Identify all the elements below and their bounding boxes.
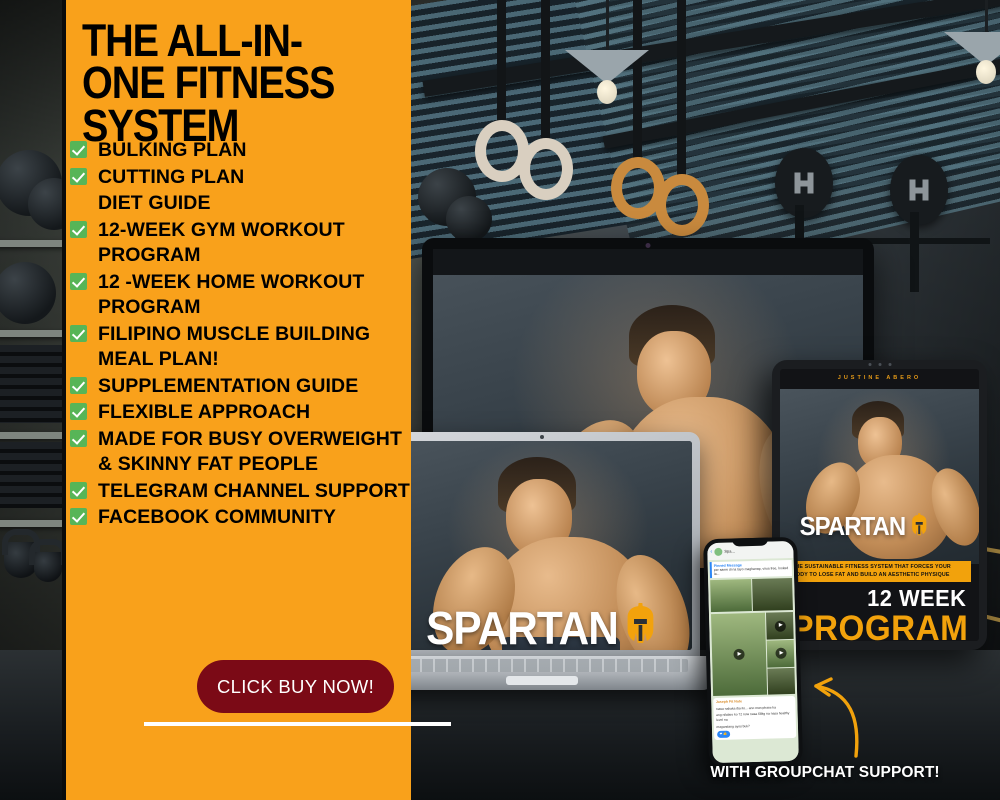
kettlebell: [34, 552, 62, 582]
gymnastic-ring: [519, 138, 573, 200]
checkmark-icon: [70, 165, 98, 185]
check-box: [70, 508, 87, 525]
storage-shelf: [0, 240, 70, 247]
tablet-subtitle-banner: THE SUSTAINABLE FITNESS SYSTEM THAT FORC…: [788, 561, 971, 582]
phone-notch: [732, 538, 768, 547]
feature-label: FILIPINO MUSCLE BUILDING MEAL PLAN!: [98, 322, 415, 373]
video-thumbnail[interactable]: [710, 579, 751, 612]
checkmark-icon: [70, 218, 98, 238]
message-line: magandang ayos buk?: [716, 723, 793, 730]
checkmark-icon: [70, 374, 98, 394]
feature-label: TELEGRAM CHANNEL SUPPORT: [98, 479, 410, 505]
pinned-text: per same di na tayo maghanap, virus free…: [714, 566, 789, 576]
storage-shelf: [0, 330, 70, 337]
pinned-message[interactable]: Pinned Message per same di na tayo magha…: [710, 560, 792, 578]
pendant-light-cord: [985, 0, 988, 34]
tablet-spartan-text: SPARTAN: [800, 511, 906, 542]
laptop-spartan-text: SPARTAN: [426, 601, 618, 650]
divider: [144, 722, 451, 726]
feature-label: 12 -WEEK HOME WORKOUT PROGRAM: [98, 270, 415, 321]
laptop-camera-icon: [540, 435, 544, 439]
video-thumbnail[interactable]: [752, 578, 793, 611]
video-thumbnail[interactable]: [766, 612, 794, 639]
feature-item: FLEXIBLE APPROACH: [70, 400, 415, 426]
laptop-trackpad: [506, 676, 578, 685]
pendant-light-shade: [565, 50, 649, 84]
check-box: [70, 325, 87, 342]
feature-item: 12-WEEK GYM WORKOUT PROGRAM: [70, 218, 415, 269]
groupchat-caption: WITH GROUPCHAT SUPPORT!: [700, 764, 950, 782]
checkmark-icon: [70, 427, 98, 447]
pendant-light-bulb: [976, 60, 996, 84]
feature-label: FACEBOOK COMMUNITY: [98, 505, 336, 531]
medicine-ball: [446, 196, 492, 242]
play-icon[interactable]: [775, 648, 786, 659]
feature-label: CUTTING PLAN: [98, 165, 244, 191]
check-box: [70, 221, 87, 238]
media-grid-top[interactable]: [710, 578, 793, 612]
checkmark-icon: [70, 400, 98, 420]
curved-arrow-icon: [798, 648, 908, 758]
rack-post: [910, 212, 919, 292]
laptop-mockup: SPARTAN: [372, 432, 712, 700]
back-chevron-icon[interactable]: ‹: [710, 549, 712, 555]
pendant-light-cord: [606, 0, 609, 52]
feature-item: DIET GUIDE: [70, 191, 415, 217]
checkmark-icon: [70, 270, 98, 290]
check-box: [70, 273, 87, 290]
checkmark-icon: [70, 505, 98, 525]
feature-label: FLEXIBLE APPROACH: [98, 400, 310, 426]
play-icon[interactable]: [774, 620, 785, 631]
ring-strap: [541, 0, 550, 146]
play-icon[interactable]: [733, 649, 744, 660]
checkmark-icon: [70, 322, 98, 342]
laptop-keyboard: [396, 659, 688, 672]
feature-label: MADE FOR BUSY OVERWEIGHT & SKINNY FAT PE…: [98, 427, 415, 478]
video-thumbnail[interactable]: [711, 613, 767, 696]
chat-title: Spa...: [724, 548, 735, 553]
storage-shelf: [0, 520, 70, 527]
feature-item: FACEBOOK COMMUNITY: [70, 505, 415, 531]
page-title: THE ALL-IN-ONE FITNESS SYSTEM: [82, 20, 372, 147]
weight-plate-stack: [0, 345, 64, 423]
feature-item: BULKING PLAN: [70, 138, 415, 164]
check-box: [70, 403, 87, 420]
spartan-helmet-icon: [622, 603, 659, 650]
screen-topbar: [433, 249, 863, 275]
media-grid-main[interactable]: [711, 612, 795, 696]
tablet-screen: JUSTINE ABERO SPARTAN: [780, 369, 979, 641]
feature-list: BULKING PLANCUTTING PLANDIET GUIDE12-WEE…: [70, 138, 415, 532]
video-thumbnail[interactable]: [767, 667, 795, 694]
pendant-light-shade: [944, 32, 1000, 66]
tablet-cover-photo: SPARTAN: [780, 389, 979, 564]
check-box: [70, 377, 87, 394]
check-box: [70, 168, 87, 185]
click-buy-now-button[interactable]: CLICK BUY NOW!: [197, 660, 394, 713]
check-box: [70, 430, 87, 447]
feature-label: SUPPLEMENTATION GUIDE: [98, 374, 358, 400]
weight-plate-rack: [775, 148, 833, 218]
check-box: [70, 141, 87, 158]
checkmark-placeholder: [70, 191, 98, 211]
weight-plate-rack: [890, 155, 948, 225]
chat-message[interactable]: Joseph Fit Note nawa nakaka iba ito... a…: [713, 696, 796, 740]
tablet-program-label: PROGRAM: [785, 609, 974, 641]
message-reactions[interactable]: ❤ 👍: [717, 731, 731, 738]
feature-item: TELEGRAM CHANNEL SUPPORT: [70, 479, 415, 505]
monitor-camera-icon: [646, 243, 651, 248]
laptop-screen: SPARTAN: [392, 441, 692, 650]
tablet-spartan-logo: SPARTAN: [800, 511, 930, 542]
feature-label: DIET GUIDE: [98, 191, 211, 217]
tablet-sensor-icons: [868, 363, 891, 366]
phone-mockup: ‹ Spa... Pinned Message per same di na t…: [703, 537, 803, 767]
message-line: ang nilalaro ko 72 now nasa 68kg na nasa…: [716, 711, 793, 722]
feature-label: BULKING PLAN: [98, 138, 247, 164]
phone-screen: ‹ Spa... Pinned Message per same di na t…: [707, 541, 799, 763]
video-thumbnail[interactable]: [767, 640, 795, 667]
checkmark-icon: [70, 138, 98, 158]
tablet-duration-label: 12 WEEK: [785, 585, 974, 612]
feature-item: CUTTING PLAN: [70, 165, 415, 191]
tablet-author-name: JUSTINE ABERO: [780, 375, 979, 381]
ring-strap: [677, 0, 686, 182]
ring-strap: [497, 0, 506, 128]
laptop-lid: SPARTAN: [384, 432, 700, 660]
spartan-helmet-icon: [909, 513, 929, 541]
laptop-spartan-logo: SPARTAN: [426, 601, 658, 650]
laptop-base: [372, 656, 712, 690]
weight-plate-stack: [0, 442, 66, 508]
pendant-light-bulb: [597, 80, 617, 104]
fitness-model-photo: SPARTAN: [392, 441, 692, 650]
message-line: nawa nakaka iba ito... ano man phase ka: [716, 705, 793, 712]
check-box: [70, 482, 87, 499]
feature-item: SUPPLEMENTATION GUIDE: [70, 374, 415, 400]
feature-item: FILIPINO MUSCLE BUILDING MEAL PLAN!: [70, 322, 415, 373]
group-avatar: [714, 547, 722, 555]
fitness-model-photo: SPARTAN: [780, 389, 979, 564]
feature-item: MADE FOR BUSY OVERWEIGHT & SKINNY FAT PE…: [70, 427, 415, 478]
storage-shelf: [0, 432, 70, 439]
message-author: Joseph Fit Note: [716, 698, 793, 705]
offer-panel: THE ALL-IN-ONE FITNESS SYSTEM BULKING PL…: [62, 0, 411, 800]
gymnastic-ring: [655, 174, 709, 236]
feature-item: 12 -WEEK HOME WORKOUT PROGRAM: [70, 270, 415, 321]
chat-body[interactable]: Pinned Message per same di na tayo magha…: [708, 558, 799, 763]
tablet-mockup: JUSTINE ABERO SPARTAN: [772, 360, 987, 650]
checkmark-icon: [70, 479, 98, 499]
feature-label: 12-WEEK GYM WORKOUT PROGRAM: [98, 218, 415, 269]
